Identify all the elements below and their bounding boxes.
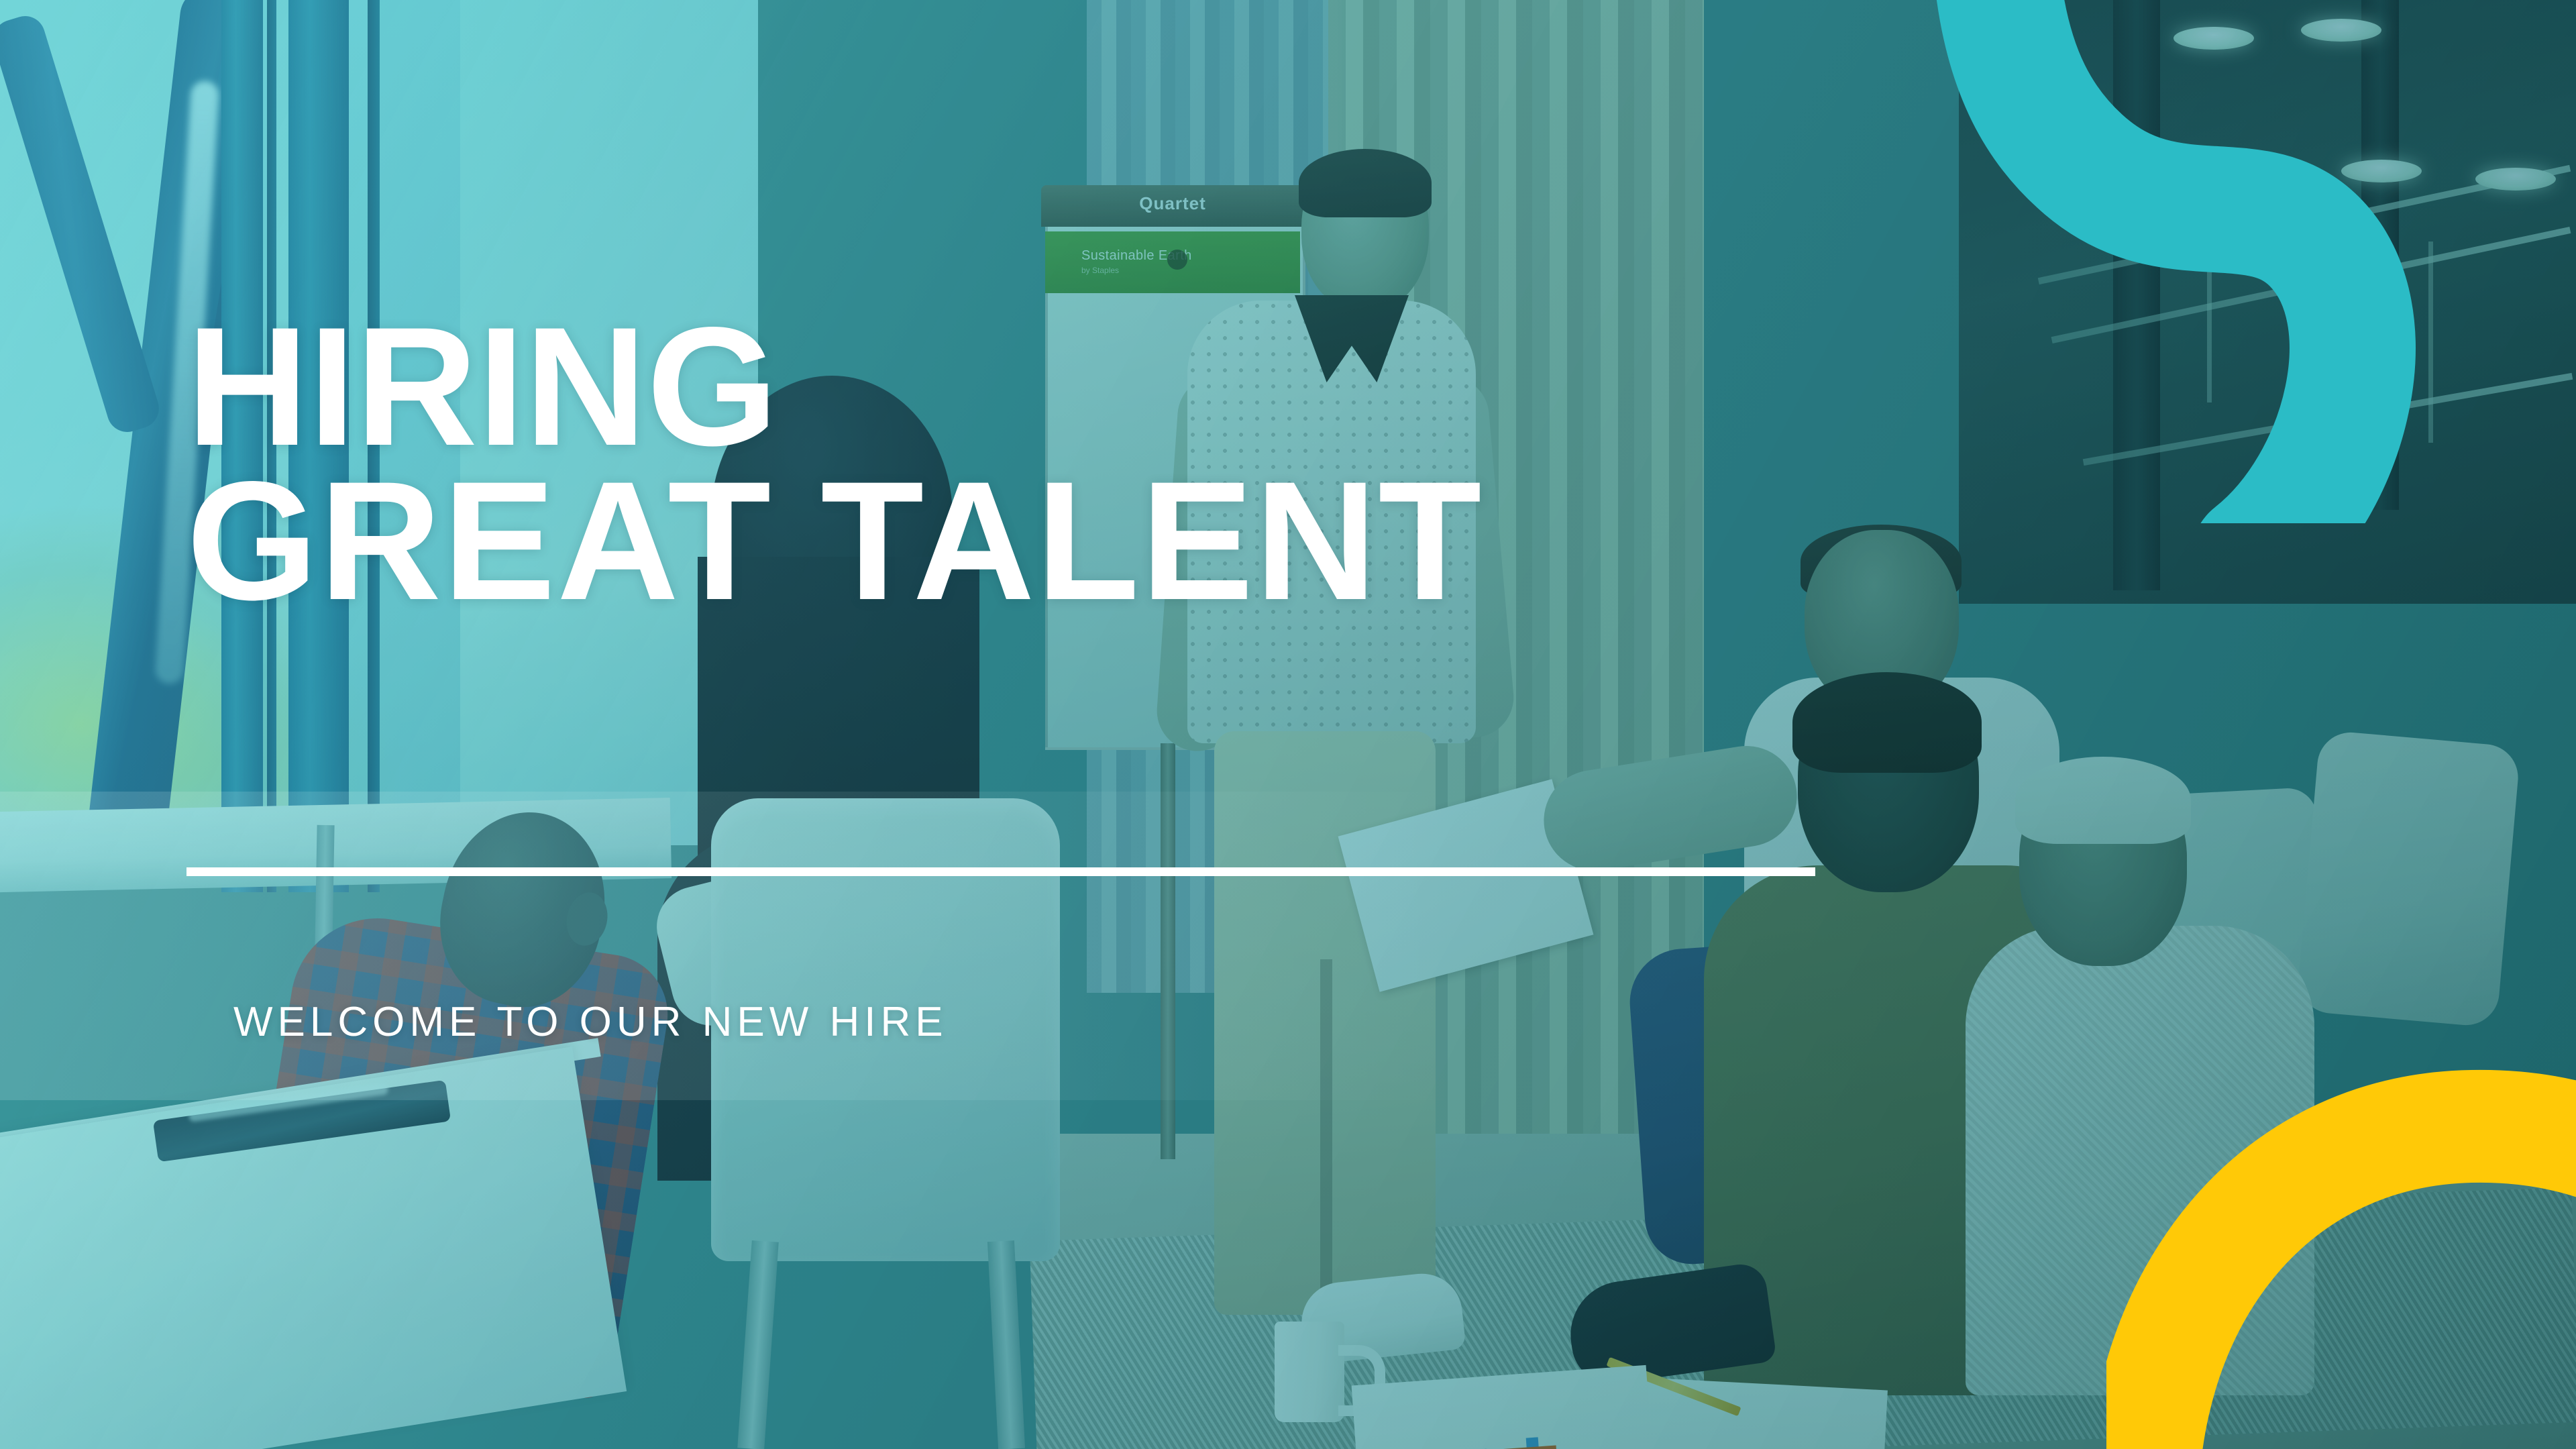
page-title: HIRING GREAT TALENT (186, 306, 1998, 623)
headline-line-1: HIRING (186, 306, 1998, 468)
yellow-arc-ring-icon (2106, 1020, 2576, 1449)
divider-rule (186, 867, 1815, 876)
headline-line-2: GREAT TALENT (186, 460, 1998, 623)
poster-canvas: Quartet Sustainable Earth by Staples (0, 0, 2576, 1449)
subtitle: WELCOME TO OUR NEW HIRE (233, 998, 948, 1046)
headline-block: HIRING GREAT TALENT (186, 306, 1998, 623)
orange-circle-accent (2056, 790, 2226, 961)
